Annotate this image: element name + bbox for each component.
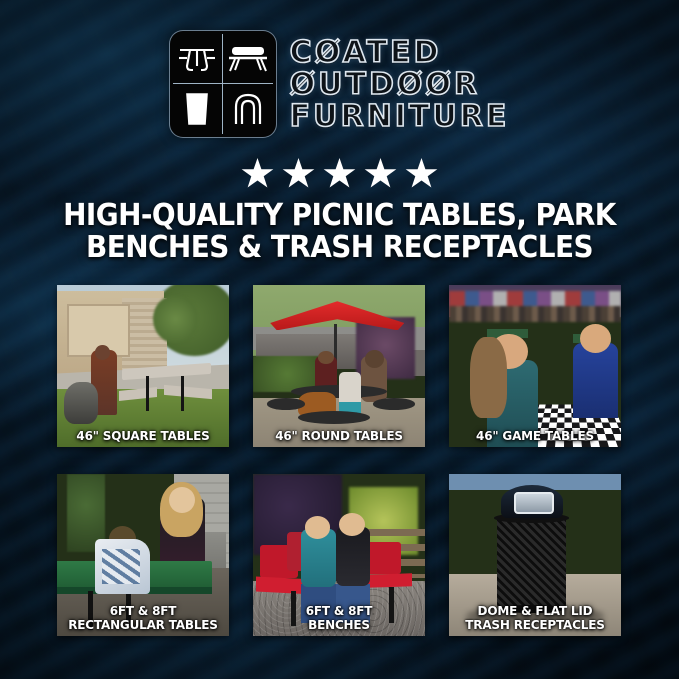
bike-rack-icon bbox=[223, 84, 273, 134]
star-icon bbox=[405, 158, 438, 190]
product-caption: 46" SQUARE TABLES bbox=[60, 429, 225, 443]
product-photo bbox=[57, 285, 229, 447]
caption-line: 46" ROUND TABLES bbox=[259, 429, 418, 443]
logo-icon-grid bbox=[170, 31, 276, 137]
headline-line-1: HIGH-QUALITY PICNIC TABLES, PARK bbox=[48, 200, 631, 232]
brand-logo: CØATED ØUTDØØR FURNITURE bbox=[0, 26, 679, 142]
product-caption: 6FT & 8FT RECTANGULAR TABLES bbox=[60, 604, 225, 631]
trash-receptacle-icon bbox=[173, 84, 223, 134]
caption-line: RECTANGULAR TABLES bbox=[63, 618, 222, 632]
caption-line: BENCHES bbox=[259, 618, 418, 632]
logo-wordmark: CØATED ØUTDØØR FURNITURE bbox=[290, 37, 510, 132]
product-photo bbox=[449, 285, 621, 447]
product-grid: 46" SQUARE TABLES bbox=[57, 285, 620, 636]
logo-line-3: FURNITURE bbox=[290, 101, 510, 132]
star-rating bbox=[0, 157, 679, 191]
star-icon bbox=[364, 158, 397, 190]
caption-line: 46" GAME TABLES bbox=[455, 429, 614, 443]
product-caption: 46" GAME TABLES bbox=[452, 429, 617, 443]
caption-line: 6FT & 8FT bbox=[63, 604, 222, 618]
product-tile-benches[interactable]: 6FT & 8FT BENCHES bbox=[253, 474, 425, 636]
headline-line-2: BENCHES & TRASH RECEPTACLES bbox=[48, 232, 631, 264]
picnic-table-icon bbox=[173, 34, 223, 84]
caption-line: DOME & FLAT LID bbox=[455, 604, 614, 618]
product-tile-round-tables[interactable]: 46" ROUND TABLES bbox=[253, 285, 425, 447]
star-icon bbox=[282, 158, 315, 190]
star-icon bbox=[323, 158, 356, 190]
product-caption: 46" ROUND TABLES bbox=[256, 429, 421, 443]
park-bench-icon bbox=[223, 34, 273, 84]
product-tile-rectangular-tables[interactable]: 6FT & 8FT RECTANGULAR TABLES bbox=[57, 474, 229, 636]
product-tile-trash-receptacles[interactable]: DOME & FLAT LID TRASH RECEPTACLES bbox=[449, 474, 621, 636]
logo-line-2: ØUTDØØR bbox=[290, 69, 510, 100]
star-icon bbox=[241, 158, 274, 190]
caption-line: TRASH RECEPTACLES bbox=[455, 618, 614, 632]
page-title: HIGH-QUALITY PICNIC TABLES, PARK BENCHES… bbox=[48, 200, 631, 264]
product-tile-square-tables[interactable]: 46" SQUARE TABLES bbox=[57, 285, 229, 447]
caption-line: 46" SQUARE TABLES bbox=[63, 429, 222, 443]
product-caption: DOME & FLAT LID TRASH RECEPTACLES bbox=[452, 604, 617, 631]
logo-line-1: CØATED bbox=[290, 37, 510, 68]
product-photo bbox=[253, 285, 425, 447]
product-tile-game-tables[interactable]: 46" GAME TABLES bbox=[449, 285, 621, 447]
caption-line: 6FT & 8FT bbox=[259, 604, 418, 618]
product-caption: 6FT & 8FT BENCHES bbox=[256, 604, 421, 631]
promotional-poster: CØATED ØUTDØØR FURNITURE HIGH-QUALITY PI… bbox=[0, 0, 679, 679]
